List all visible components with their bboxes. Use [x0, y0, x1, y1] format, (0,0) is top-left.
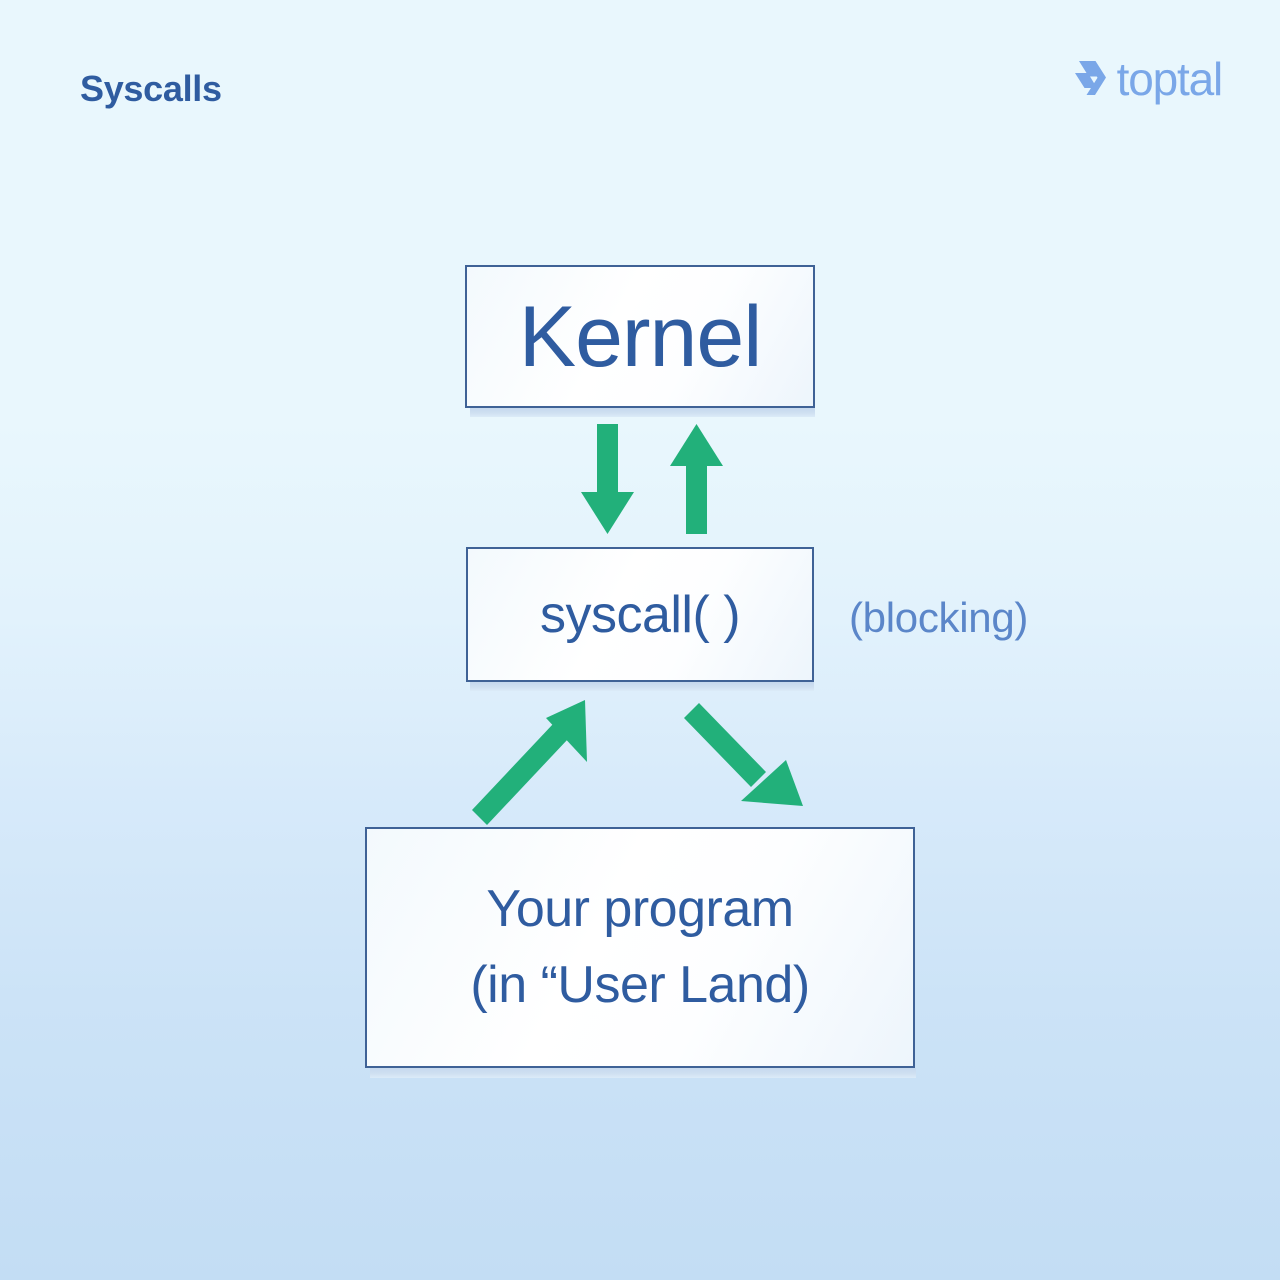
- program-box-label-line1: Your program: [486, 872, 793, 947]
- arrow-down-right-icon: [684, 703, 803, 806]
- blocking-annotation: (blocking): [849, 594, 1028, 642]
- program-box-label-line2: (in “User Land): [470, 948, 809, 1023]
- kernel-box-shadow: [470, 408, 815, 417]
- brand-name: toptal: [1117, 56, 1222, 102]
- arrow-down-icon: [581, 424, 634, 534]
- program-box-shadow: [370, 1068, 916, 1078]
- kernel-box-label: Kernel: [519, 294, 762, 380]
- diagram-canvas: Syscalls toptal Kernel syscall( ) Your p…: [0, 0, 1280, 1280]
- syscall-box-label: syscall( ): [540, 589, 740, 641]
- arrow-up-icon: [670, 424, 723, 534]
- syscall-box-shadow: [470, 682, 814, 691]
- brand-logo: toptal: [1073, 56, 1222, 102]
- toptal-chevron-logo-icon: [1073, 57, 1111, 101]
- program-box: Your program (in “User Land): [365, 827, 915, 1068]
- page-title: Syscalls: [80, 68, 222, 110]
- kernel-box: Kernel: [465, 265, 815, 408]
- arrow-up-right-icon: [472, 700, 587, 825]
- syscall-box: syscall( ): [466, 547, 814, 682]
